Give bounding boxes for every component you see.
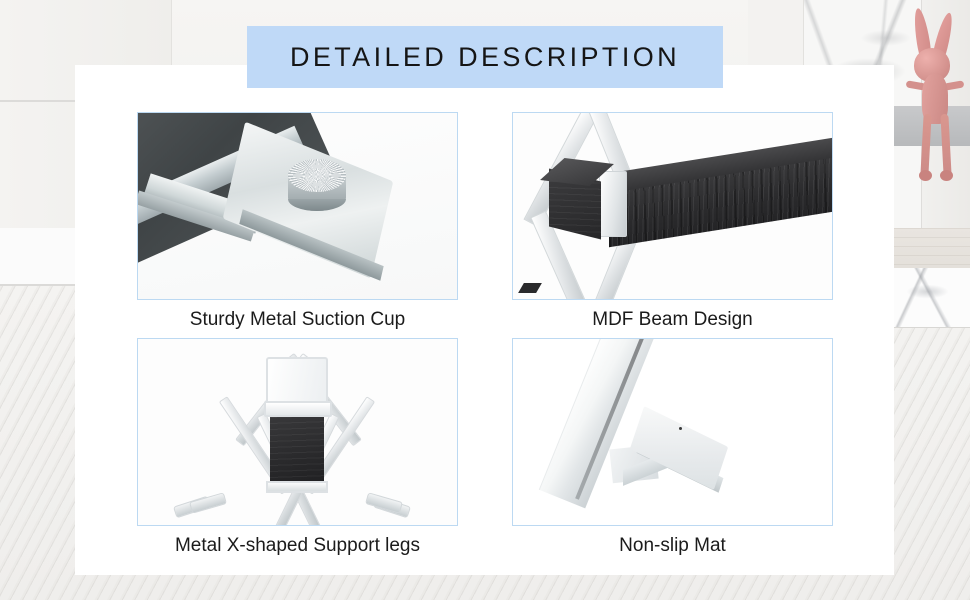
feature-image-frame	[137, 338, 458, 526]
feature-image-frame	[512, 338, 833, 526]
feature-tile-non-slip-mat[interactable]: Non-slip Mat	[512, 338, 833, 526]
non-slip-mat-photo	[513, 339, 832, 525]
marble-floor-tile-sample	[893, 268, 970, 328]
center-collar-middle-shape	[264, 401, 332, 417]
bunny-leg-right-icon	[940, 114, 951, 176]
feature-tile-x-support-legs[interactable]: Metal X-shaped Support legs	[137, 338, 458, 526]
feature-image-frame	[512, 112, 833, 300]
feature-caption: MDF Beam Design	[512, 300, 833, 340]
beam-foot-shape	[518, 283, 542, 293]
page-title: DETAILED DESCRIPTION	[290, 42, 680, 73]
x-support-legs-photo	[138, 339, 457, 525]
feature-caption: Non-slip Mat	[512, 526, 833, 566]
section-title-banner: DETAILED DESCRIPTION	[247, 26, 723, 88]
center-collar-bottom-shape	[266, 481, 328, 493]
feature-caption: Sturdy Metal Suction Cup	[137, 300, 458, 340]
feature-tile-mdf-beam[interactable]: MDF Beam Design	[512, 112, 833, 300]
chrome-joint-hub-shape	[599, 171, 627, 237]
center-collar-upper-shape	[266, 357, 328, 405]
mdf-beam-photo	[513, 113, 832, 299]
bunny-leg-left-icon	[920, 114, 931, 176]
feature-grid: Sturdy Metal Suction Cup MDF Beam De	[137, 112, 833, 562]
leg-foot-inner-left-shape	[189, 492, 227, 513]
bunny-foot-left-icon	[919, 170, 932, 181]
feature-image-frame	[137, 112, 458, 300]
suction-cup-photo	[138, 113, 457, 299]
bunny-foot-right-icon	[940, 170, 953, 181]
feature-caption: Metal X-shaped Support legs	[137, 526, 458, 566]
feature-tile-suction-cup[interactable]: Sturdy Metal Suction Cup	[137, 112, 458, 300]
suction-cup-brushed-top-shape	[288, 159, 346, 192]
center-beam-lower-shape	[270, 417, 324, 487]
foot-pad-detail-dot	[679, 427, 682, 430]
pink-bunny-figurine	[902, 6, 968, 191]
product-detail-page: DETAILED DESCRIPTION Sturdy Metal Suctio…	[0, 0, 970, 600]
